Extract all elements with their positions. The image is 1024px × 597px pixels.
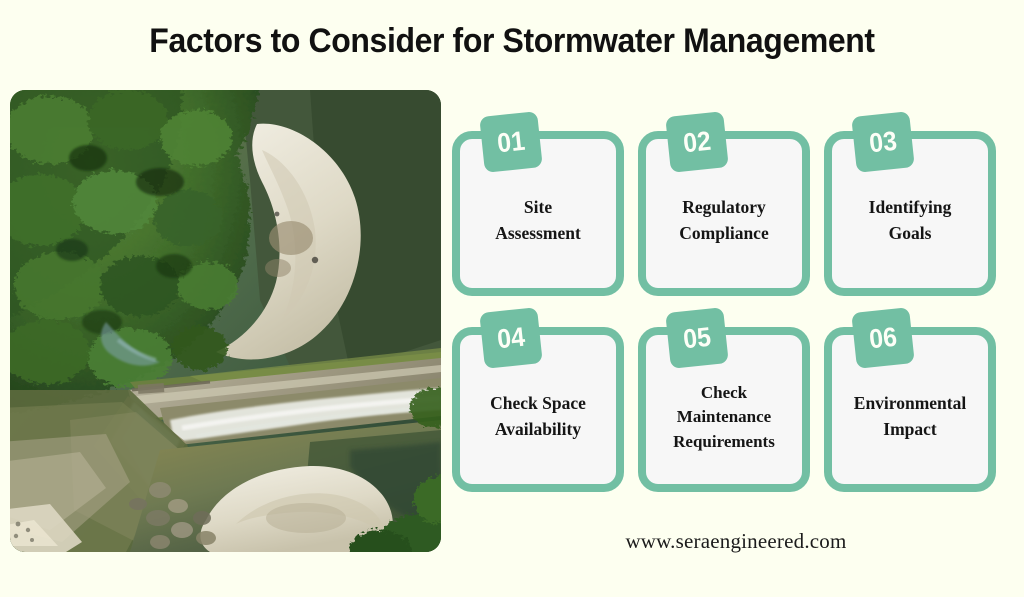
- card-label-04: Check Space Availability: [490, 391, 586, 442]
- card-label-line: Identifying: [869, 195, 952, 220]
- card-number-badge-05: 05: [665, 307, 729, 369]
- card-label-line: Goals: [869, 221, 952, 246]
- card-number-04: 04: [496, 321, 527, 355]
- card-number-badge-02: 02: [665, 111, 729, 173]
- card-label-line: Assessment: [495, 221, 581, 246]
- card-label-line: Availability: [490, 417, 586, 442]
- card-label-line: Requirements: [673, 430, 775, 454]
- card-label-line: Impact: [854, 417, 966, 442]
- factor-card-02[interactable]: 02 Regulatory Compliance: [638, 131, 810, 296]
- card-label-line: Check: [673, 381, 775, 405]
- card-label-line: Site: [495, 195, 581, 220]
- website-url[interactable]: www.seraengineered.com: [452, 529, 1020, 554]
- card-number-02: 02: [682, 125, 713, 159]
- card-label-03: Identifying Goals: [869, 195, 952, 246]
- card-label-line: Maintenance: [673, 405, 775, 429]
- card-number-badge-04: 04: [479, 307, 543, 369]
- card-label-line: Check Space: [490, 391, 586, 416]
- card-label-01: Site Assessment: [495, 195, 581, 246]
- card-number-03: 03: [868, 125, 899, 159]
- card-label-02: Regulatory Compliance: [679, 195, 768, 246]
- card-number-badge-01: 01: [479, 111, 543, 173]
- card-number-06: 06: [868, 321, 899, 355]
- infographic-poster: Factors to Consider for Stormwater Manag…: [0, 0, 1024, 597]
- factor-card-04[interactable]: 04 Check Space Availability: [452, 327, 624, 492]
- card-label-05: Check Maintenance Requirements: [673, 381, 775, 453]
- card-number-badge-06: 06: [851, 307, 915, 369]
- card-label-06: Environmental Impact: [854, 391, 966, 442]
- factor-card-03[interactable]: 03 Identifying Goals: [824, 131, 996, 296]
- factor-card-05[interactable]: 05 Check Maintenance Requirements: [638, 327, 810, 492]
- factor-card-06[interactable]: 06 Environmental Impact: [824, 327, 996, 492]
- card-number-05: 05: [682, 321, 713, 355]
- card-label-line: Regulatory: [679, 195, 768, 220]
- card-label-line: Compliance: [679, 221, 768, 246]
- factors-card-grid: 01 Site Assessment 02 Regulatory Complia…: [452, 131, 1020, 492]
- aerial-dam-photo: [10, 90, 441, 552]
- photo-illustration: [10, 90, 441, 552]
- page-title: Factors to Consider for Stormwater Manag…: [31, 22, 994, 61]
- card-number-badge-03: 03: [851, 111, 915, 173]
- card-number-01: 01: [496, 125, 527, 159]
- card-label-line: Environmental: [854, 391, 966, 416]
- factor-card-01[interactable]: 01 Site Assessment: [452, 131, 624, 296]
